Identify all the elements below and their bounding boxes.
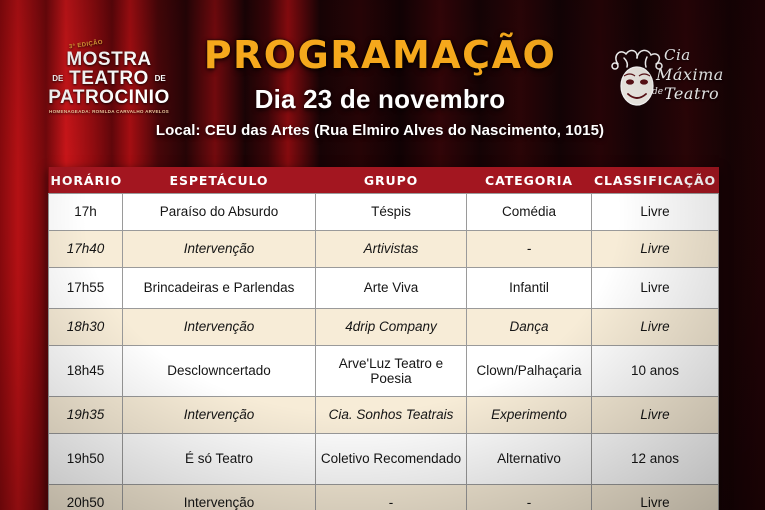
table-row: 17h55Brincadeiras e ParlendasArte VivaIn… <box>49 268 719 309</box>
cell-espetaculo: É só Teatro <box>123 434 316 485</box>
cell-categoria: Infantil <box>467 268 592 309</box>
cia-maxima-teatro-logo: Cia Máxima de Teatro <box>604 36 730 114</box>
table-row: 20h50Intervenção--Livre <box>49 485 719 510</box>
cell-espetaculo: Intervenção <box>123 231 316 268</box>
table-row: 19h35IntervençãoCia. Sonhos TeatraisExpe… <box>49 397 719 434</box>
event-venue: Local: CEU das Artes (Rua Elmiro Alves d… <box>120 123 640 138</box>
program-poster: 3ª EDIÇÃO MOSTRA DE TEATRO DE PATROCINIO… <box>0 0 765 510</box>
cell-horario: 18h45 <box>49 346 123 397</box>
cell-horario: 17h <box>49 194 123 231</box>
cell-classificacao: Livre <box>592 397 719 434</box>
cell-classificacao: 10 anos <box>592 346 719 397</box>
table-head: HORÁRIO ESPETÁCULO GRUPO CATEGORIA CLASS… <box>49 167 719 194</box>
cell-horario: 19h35 <box>49 397 123 434</box>
column-header-grupo: GRUPO <box>316 167 467 194</box>
column-header-classificacao: CLASSIFICAÇÃO <box>592 167 719 194</box>
cell-horario: 17h40 <box>49 231 123 268</box>
cell-horario: 19h50 <box>49 434 123 485</box>
cell-espetaculo: Intervenção <box>123 309 316 346</box>
cell-espetaculo: Intervenção <box>123 397 316 434</box>
cell-grupo: Coletivo Recomendado <box>316 434 467 485</box>
cell-classificacao: Livre <box>592 268 719 309</box>
cell-espetaculo: Brincadeiras e Parlendas <box>123 268 316 309</box>
title-block: PROGRAMAÇÃO Dia 23 de novembro Local: CE… <box>120 36 640 138</box>
page-title: PROGRAMAÇÃO <box>120 36 640 74</box>
table-row: 17hParaíso do AbsurdoTéspisComédiaLivre <box>49 194 719 231</box>
cell-classificacao: Livre <box>592 194 719 231</box>
table-row: 17h40IntervençãoArtivistas-Livre <box>49 231 719 268</box>
table-row: 18h30Intervenção4drip CompanyDançaLivre <box>49 309 719 346</box>
logo-cia-word: Cia <box>664 46 691 64</box>
cell-espetaculo: Paraíso do Absurdo <box>123 194 316 231</box>
cell-categoria: Dança <box>467 309 592 346</box>
cell-categoria: Clown/Palhaçaria <box>467 346 592 397</box>
cell-grupo: Cia. Sonhos Teatrais <box>316 397 467 434</box>
cell-grupo: Arve'Luz Teatro e Poesia <box>316 346 467 397</box>
cell-classificacao: Livre <box>592 309 719 346</box>
cell-grupo: - <box>316 485 467 510</box>
schedule-table-wrapper: HORÁRIO ESPETÁCULO GRUPO CATEGORIA CLASS… <box>48 167 718 510</box>
cell-horario: 20h50 <box>49 485 123 510</box>
cell-categoria: - <box>467 485 592 510</box>
cell-classificacao: Livre <box>592 231 719 268</box>
cell-categoria: Comédia <box>467 194 592 231</box>
cell-espetaculo: Intervenção <box>123 485 316 510</box>
logo-maxima-word: Máxima <box>656 65 724 84</box>
cell-classificacao: 12 anos <box>592 434 719 485</box>
column-header-categoria: CATEGORIA <box>467 167 592 194</box>
table-header-row: HORÁRIO ESPETÁCULO GRUPO CATEGORIA CLASS… <box>49 167 719 194</box>
cell-grupo: Artivistas <box>316 231 467 268</box>
event-date: Dia 23 de novembro <box>120 86 640 112</box>
cell-categoria: Alternativo <box>467 434 592 485</box>
poster-header: 3ª EDIÇÃO MOSTRA DE TEATRO DE PATROCINIO… <box>0 0 765 160</box>
cell-grupo: Arte Viva <box>316 268 467 309</box>
logo-de-word: de <box>652 87 663 97</box>
column-header-horario: HORÁRIO <box>49 167 123 194</box>
table-row: 18h45DesclowncertadoArve'Luz Teatro e Po… <box>49 346 719 397</box>
logo-teatro-word-right: Teatro <box>664 84 719 103</box>
cell-grupo: 4drip Company <box>316 309 467 346</box>
logo-de-1: DE <box>52 74 63 83</box>
cell-categoria: - <box>467 231 592 268</box>
cell-horario: 18h30 <box>49 309 123 346</box>
cell-categoria: Experimento <box>467 397 592 434</box>
column-header-espetaculo: ESPETÁCULO <box>123 167 316 194</box>
schedule-table: HORÁRIO ESPETÁCULO GRUPO CATEGORIA CLASS… <box>48 167 719 510</box>
cell-grupo: Téspis <box>316 194 467 231</box>
cell-horario: 17h55 <box>49 268 123 309</box>
table-body: 17hParaíso do AbsurdoTéspisComédiaLivre1… <box>49 194 719 510</box>
table-row: 19h50É só TeatroColetivo RecomendadoAlte… <box>49 434 719 485</box>
cell-espetaculo: Desclowncertado <box>123 346 316 397</box>
cell-classificacao: Livre <box>592 485 719 510</box>
